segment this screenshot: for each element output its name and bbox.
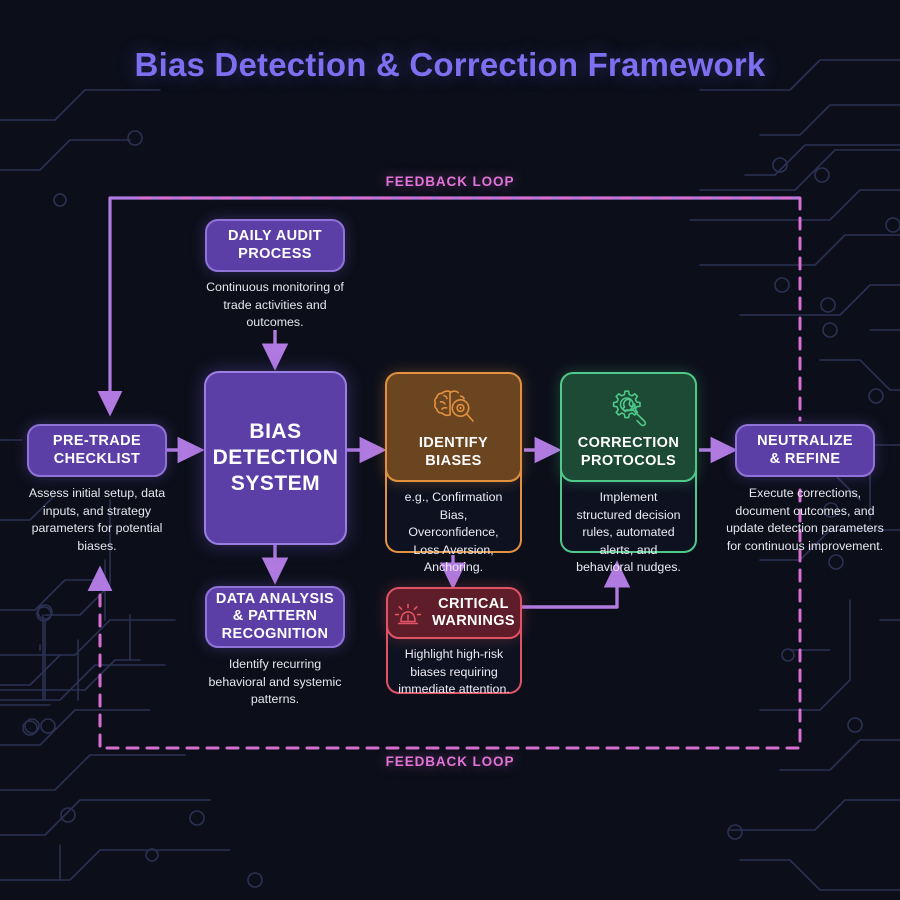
node-correction-protocols[interactable]: CORRECTION PROTOCOLS Implement structure… [560, 372, 697, 553]
bias-detection-title-line2: DETECTION [213, 445, 339, 471]
gear-wrench-icon [607, 388, 651, 428]
neutralize-refine-title-line2: & REFINE [770, 451, 841, 468]
data-analysis-title-line3: RECOGNITION [222, 626, 329, 643]
correction-protocols-title-line2: PROTOCOLS [581, 453, 676, 470]
critical-warnings-title-group: CRITICAL WARNINGS [432, 596, 515, 630]
data-analysis-title-line1: DATA ANALYSIS [216, 591, 334, 608]
page-title: Bias Detection & Correction Framework [0, 46, 900, 84]
pre-trade-chip[interactable]: PRE-TRADE CHECKLIST [27, 424, 167, 477]
feedback-loop-label-top: FEEDBACK LOOP [386, 174, 515, 189]
daily-audit-title-line1: DAILY AUDIT [228, 228, 322, 245]
pre-trade-caption: Assess initial setup, data inputs, and s… [20, 485, 175, 555]
bias-detection-title-line1: BIAS [249, 419, 301, 445]
identify-biases-title-line1: IDENTIFY [419, 435, 488, 452]
correction-protocols-header[interactable]: CORRECTION PROTOCOLS [560, 372, 697, 482]
daily-audit-caption: Continuous monitoring of trade activitie… [200, 279, 350, 332]
critical-warnings-title-line1: CRITICAL [432, 596, 515, 613]
identify-biases-title-line2: BIASES [425, 453, 481, 470]
critical-warnings-title-line2: WARNINGS [432, 613, 515, 630]
pre-trade-title-line1: PRE-TRADE [53, 433, 141, 450]
daily-audit-title-line2: PROCESS [238, 246, 312, 263]
node-pre-trade-checklist[interactable]: PRE-TRADE CHECKLIST Assess initial setup… [27, 424, 167, 477]
node-neutralize-refine[interactable]: NEUTRALIZE & REFINE Execute corrections,… [735, 424, 875, 477]
node-data-analysis-pattern-recognition[interactable]: DATA ANALYSIS & PATTERN RECOGNITION Iden… [205, 586, 345, 648]
pre-trade-title-line2: CHECKLIST [54, 451, 141, 468]
node-daily-audit-process[interactable]: DAILY AUDIT PROCESS Continuous monitorin… [205, 219, 345, 272]
correction-protocols-title-line1: CORRECTION [578, 435, 679, 452]
identify-biases-header[interactable]: IDENTIFY BIASES [385, 372, 522, 482]
neutralize-refine-caption: Execute corrections, document outcomes, … [726, 485, 884, 555]
bias-detection-title-line3: SYSTEM [231, 471, 320, 497]
daily-audit-chip[interactable]: DAILY AUDIT PROCESS [205, 219, 345, 272]
critical-warnings-header[interactable]: CRITICAL WARNINGS [386, 587, 522, 639]
diagram-canvas: Bias Detection & Correction Framework FE… [0, 0, 900, 900]
neutralize-refine-chip[interactable]: NEUTRALIZE & REFINE [735, 424, 875, 477]
node-critical-warnings[interactable]: CRITICAL WARNINGS Highlight high-risk bi… [386, 587, 522, 694]
data-analysis-chip[interactable]: DATA ANALYSIS & PATTERN RECOGNITION [205, 586, 345, 648]
brain-magnifier-icon [431, 388, 477, 428]
node-bias-detection-system[interactable]: BIAS DETECTION SYSTEM [204, 371, 347, 545]
neutralize-refine-title-line1: NEUTRALIZE [757, 433, 853, 450]
node-identify-biases[interactable]: IDENTIFY BIASES e.g., Confirmation Bias,… [385, 372, 522, 553]
data-analysis-title-line2: & PATTERN [233, 608, 317, 625]
feedback-loop-label-bottom: FEEDBACK LOOP [386, 754, 515, 769]
siren-alert-icon [393, 598, 423, 628]
data-analysis-caption: Identify recurring behavioral and system… [199, 656, 351, 709]
